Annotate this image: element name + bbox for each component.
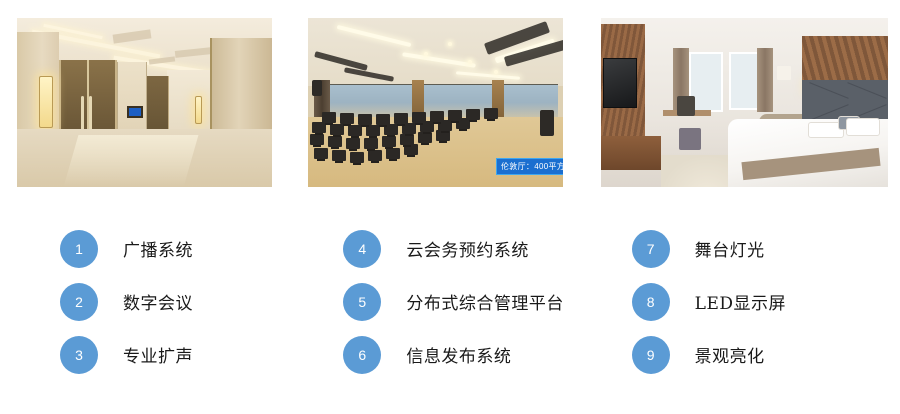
feature-label: LED显示屏 bbox=[695, 289, 786, 314]
feature-item-7[interactable]: 7 舞台灯光 bbox=[632, 222, 900, 275]
downlight bbox=[424, 52, 428, 56]
feature-number-badge: 1 bbox=[60, 230, 98, 268]
downlight bbox=[468, 60, 472, 64]
floor-lamp bbox=[777, 66, 791, 80]
feature-label: 数字会议 bbox=[123, 289, 193, 314]
feature-column-1: 1 广播系统 2 数字会议 3 专业扩声 bbox=[0, 200, 328, 414]
feature-number-badge: 9 bbox=[632, 336, 670, 374]
feature-number-badge: 5 bbox=[343, 283, 381, 321]
wall-display-screen bbox=[127, 106, 143, 118]
photo-gallery: 伦敦厅：400平方 bbox=[0, 0, 900, 200]
television bbox=[603, 58, 637, 108]
feature-item-6[interactable]: 6 信息发布系统 bbox=[343, 328, 611, 381]
chair-rows bbox=[310, 104, 510, 170]
feature-number-badge: 7 bbox=[632, 230, 670, 268]
feature-number-badge: 2 bbox=[60, 283, 98, 321]
loudspeaker bbox=[312, 80, 322, 96]
feature-item-1[interactable]: 1 广播系统 bbox=[60, 222, 328, 275]
elevator-lobby-illustration bbox=[17, 18, 272, 187]
feature-label: 云会务预约系统 bbox=[406, 236, 529, 261]
loudspeaker bbox=[540, 110, 554, 136]
feature-number-badge: 6 bbox=[343, 336, 381, 374]
feature-column-3: 7 舞台灯光 8 LED显示屏 9 景观亮化 bbox=[612, 200, 900, 414]
feature-number-badge: 3 bbox=[60, 336, 98, 374]
lobby-scene bbox=[17, 18, 272, 187]
downlight bbox=[448, 42, 452, 46]
feature-label: 舞台灯光 bbox=[695, 236, 765, 261]
hall-scene: 伦敦厅：400平方 bbox=[308, 18, 563, 187]
window-curtain bbox=[757, 48, 773, 112]
room-area-label: 伦敦厅：400平方 bbox=[496, 158, 563, 175]
feature-item-8[interactable]: 8 LED显示屏 bbox=[632, 275, 900, 328]
feature-column-2: 4 云会务预约系统 5 分布式综合管理平台 6 信息发布系统 bbox=[328, 200, 611, 414]
page-root: 伦敦厅：400平方 bbox=[0, 0, 900, 414]
feature-label: 信息发布系统 bbox=[406, 342, 511, 367]
wall-sconce bbox=[195, 96, 202, 124]
feature-item-3[interactable]: 3 专业扩声 bbox=[60, 328, 328, 381]
guest-room-photo bbox=[601, 18, 888, 187]
feature-label: 景观亮化 bbox=[695, 342, 765, 367]
floor-reflection bbox=[64, 135, 199, 187]
feature-item-4[interactable]: 4 云会务预约系统 bbox=[343, 222, 611, 275]
credenza bbox=[601, 136, 661, 170]
guest-room-illustration bbox=[601, 18, 888, 187]
wall-sconce bbox=[39, 76, 53, 128]
feature-list: 1 广播系统 2 数字会议 3 专业扩声 4 云会务预约系统 5 分布式综合管理… bbox=[0, 200, 900, 414]
elevator-lobby-photo bbox=[17, 18, 272, 187]
conference-hall-illustration: 伦敦厅：400平方 bbox=[308, 18, 563, 187]
conference-hall-photo: 伦敦厅：400平方 bbox=[308, 18, 563, 187]
feature-label: 专业扩声 bbox=[123, 342, 193, 367]
feature-label: 广播系统 bbox=[123, 236, 193, 261]
feature-label: 分布式综合管理平台 bbox=[406, 289, 564, 314]
downlight bbox=[494, 70, 498, 74]
feature-item-9[interactable]: 9 景观亮化 bbox=[632, 328, 900, 381]
room-scene bbox=[601, 18, 888, 187]
ottoman bbox=[679, 128, 701, 150]
feature-number-badge: 8 bbox=[632, 283, 670, 321]
feature-item-2[interactable]: 2 数字会议 bbox=[60, 275, 328, 328]
desk-chair bbox=[677, 96, 695, 116]
pillow bbox=[846, 118, 880, 136]
feature-number-badge: 4 bbox=[343, 230, 381, 268]
feature-item-5[interactable]: 5 分布式综合管理平台 bbox=[343, 275, 611, 328]
